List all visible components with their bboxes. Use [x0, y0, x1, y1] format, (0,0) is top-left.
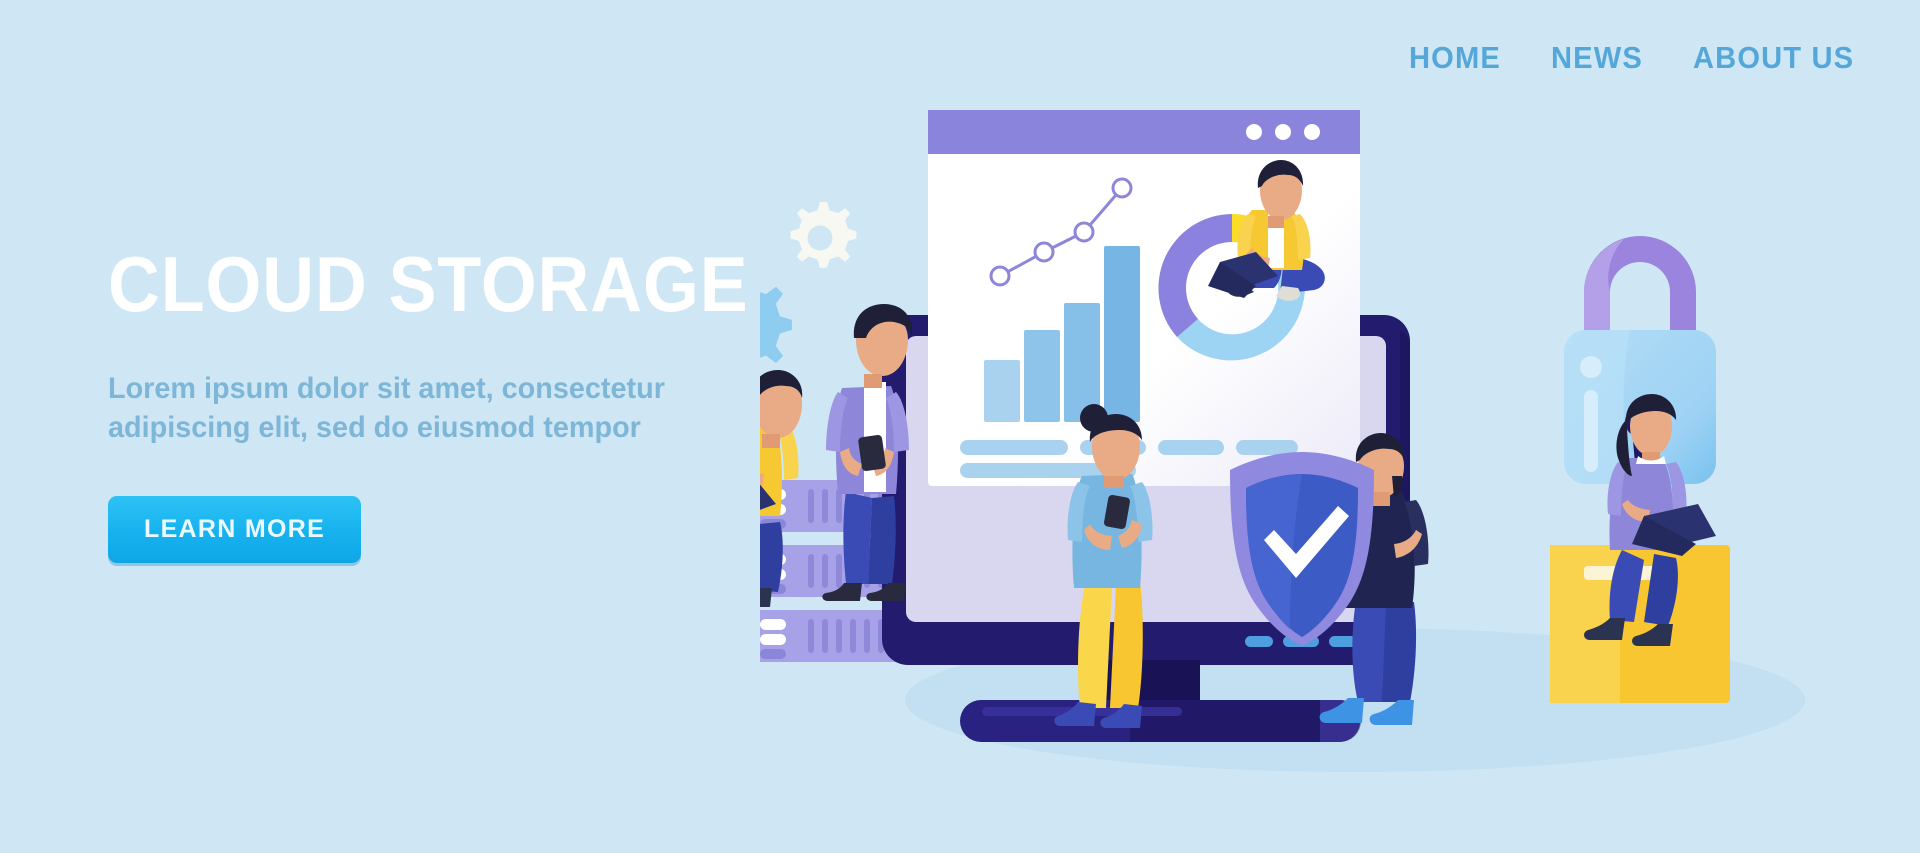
lock-highlight-dot: [1580, 356, 1602, 378]
nav-item-about-us[interactable]: ABOUT US: [1693, 40, 1854, 76]
lock-highlight-bar: [1584, 390, 1598, 472]
line-marker: [1035, 243, 1053, 261]
bar: [1104, 246, 1140, 422]
gear-small-icon: [791, 202, 857, 268]
landing-page: HOME NEWS ABOUT US CLOUD STORAGE Lorem i…: [0, 0, 1920, 853]
nav-item-news[interactable]: NEWS: [1551, 40, 1643, 76]
cloud-storage-illustration: [760, 0, 1920, 853]
page-title: CLOUD STORAGE: [108, 245, 715, 325]
main-navigation: HOME NEWS ABOUT US: [1409, 40, 1864, 76]
monitor: [882, 110, 1410, 742]
bar: [984, 360, 1020, 422]
browser-titlebar: [928, 110, 1360, 154]
nav-item-home[interactable]: HOME: [1409, 40, 1501, 76]
line-marker: [991, 267, 1009, 285]
hero-subtitle: Lorem ipsum dolor sit amet, consectetur …: [108, 369, 703, 449]
bar: [1024, 330, 1060, 422]
browser-window-controls: [1246, 124, 1320, 140]
line-marker: [1075, 223, 1093, 241]
hero-copy-block: CLOUD STORAGE Lorem ipsum dolor sit amet…: [108, 245, 768, 563]
learn-more-button[interactable]: LEARN MORE: [108, 496, 361, 563]
line-marker: [1113, 179, 1131, 197]
